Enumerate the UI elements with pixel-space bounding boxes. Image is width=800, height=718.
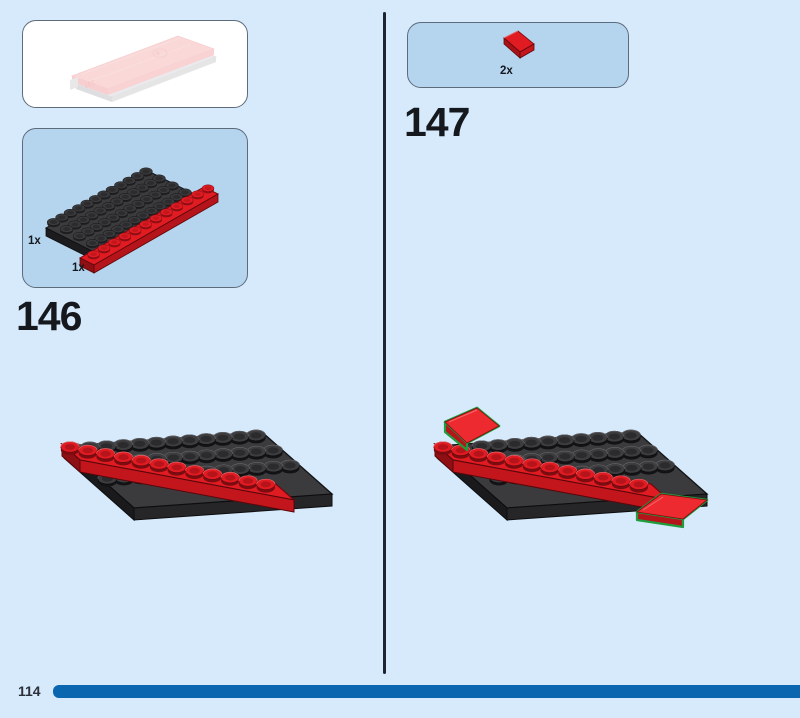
page-progress-bar <box>53 685 800 698</box>
part-red-curved-slope <box>504 31 534 58</box>
instruction-page: § 137 <box>0 0 800 718</box>
step-146-part-1-quantity: 1x <box>28 236 41 248</box>
step-number-146: 146 <box>16 296 81 337</box>
step-147-assembly-art <box>415 388 735 573</box>
step-146-assembly-art <box>42 388 354 568</box>
column-divider <box>383 12 386 674</box>
step-number-147: 147 <box>404 102 469 143</box>
step-147-part-1-quantity: 2x <box>500 66 513 78</box>
step-147-parts-art <box>488 28 548 68</box>
step-146-preview-art: § 137 <box>30 24 242 106</box>
page-number: 114 <box>18 684 41 698</box>
step-146-part-2-quantity: 1x <box>72 263 85 275</box>
step-146-parts-art <box>28 132 242 284</box>
